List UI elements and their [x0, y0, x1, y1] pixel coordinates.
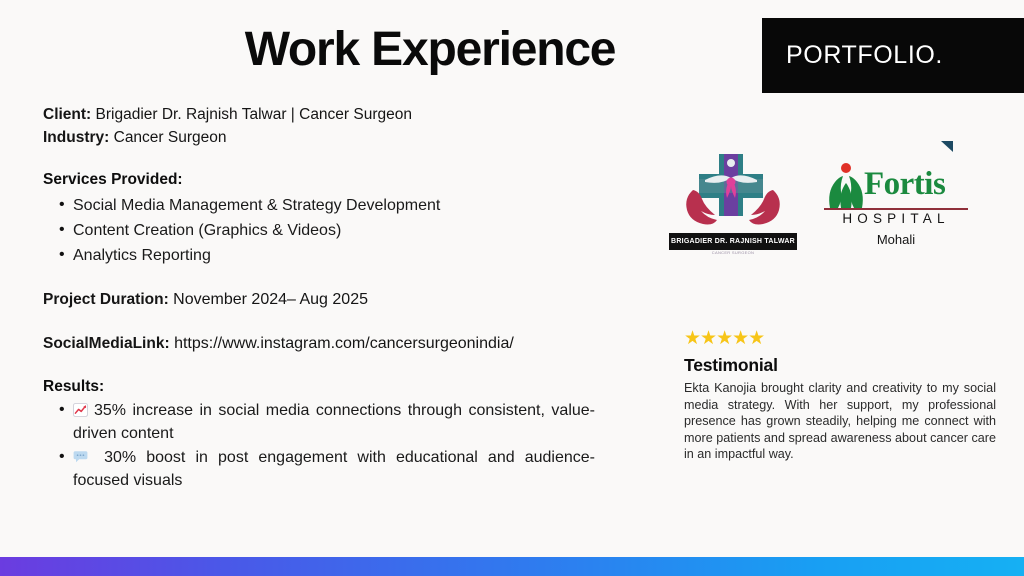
page-title: Work Experience	[0, 22, 860, 77]
client-line: Client: Brigadier Dr. Rajnish Talwar | C…	[43, 103, 623, 126]
fortis-wordmark: Fortis	[864, 166, 945, 203]
client-value: Brigadier Dr. Rajnish Talwar | Cancer Su…	[91, 106, 412, 123]
fortis-city: Mohali	[824, 232, 968, 247]
industry-value: Cancer Surgeon	[109, 129, 226, 146]
rating-stars: ★★★★★	[684, 328, 996, 350]
talwar-logo-banner: BRIGADIER DR. RAJNISH TALWAR	[669, 233, 797, 250]
result-text: 35% increase in social media connections…	[73, 402, 595, 442]
industry-line: Industry: Cancer Surgeon	[43, 126, 623, 149]
results-heading: Results:	[43, 378, 623, 396]
testimonial-block: ★★★★★ Testimonial Ekta Kanojia brought c…	[684, 328, 996, 463]
chart-increasing-icon	[73, 401, 88, 415]
list-item: Social Media Management & Strategy Devel…	[43, 193, 623, 218]
client-label: Client:	[43, 106, 91, 123]
services-heading: Services Provided:	[43, 171, 623, 189]
portfolio-badge: PORTFOLIO.	[762, 18, 1024, 93]
project-duration-line: Project Duration: November 2024– Aug 202…	[43, 288, 623, 312]
list-item: Analytics Reporting	[43, 243, 623, 268]
left-content-column: Client: Brigadier Dr. Rajnish Talwar | C…	[43, 103, 623, 493]
footer-gradient-bar	[0, 557, 1024, 576]
talwar-logo-mark	[669, 152, 797, 236]
fortis-rule	[824, 208, 968, 210]
result-text: 30% boost in post engagement with educat…	[73, 449, 595, 489]
brigadier-dr-rajnish-talwar-logo: BRIGADIER DR. RAJNISH TALWAR CANCER SURG…	[669, 152, 797, 252]
social-media-link-label: SocialMediaLink:	[43, 335, 170, 352]
list-item: 35% increase in social media connections…	[43, 399, 595, 445]
portfolio-badge-label: PORTFOLIO.	[786, 41, 943, 70]
social-media-link-line[interactable]: SocialMediaLink: https://www.instagram.c…	[43, 332, 623, 356]
decorative-arrow-icon	[941, 141, 953, 152]
fortis-hospital-logo: Fortis HOSPITAL Mohali	[802, 158, 998, 254]
project-duration-value: November 2024– Aug 2025	[169, 291, 368, 308]
services-list: Social Media Management & Strategy Devel…	[43, 193, 623, 268]
list-item: Content Creation (Graphics & Videos)	[43, 218, 623, 243]
fortis-subtitle: HOSPITAL	[824, 211, 968, 226]
speech-balloon-icon	[73, 448, 88, 462]
testimonial-title: Testimonial	[684, 355, 996, 376]
slide-canvas: Work Experience PORTFOLIO. Client: Briga…	[0, 0, 1024, 576]
project-duration-label: Project Duration:	[43, 291, 169, 308]
client-logos: BRIGADIER DR. RAJNISH TALWAR CANCER SURG…	[660, 152, 1000, 257]
talwar-logo-banner-subtext: CANCER SURGEON	[669, 250, 797, 255]
industry-label: Industry:	[43, 129, 109, 146]
testimonial-body: Ekta Kanojia brought clarity and creativ…	[684, 380, 996, 463]
results-list: 35% increase in social media connections…	[43, 399, 595, 492]
social-media-link-url[interactable]: https://www.instagram.com/cancersurgeoni…	[170, 335, 514, 352]
list-item: 30% boost in post engagement with educat…	[43, 446, 595, 492]
